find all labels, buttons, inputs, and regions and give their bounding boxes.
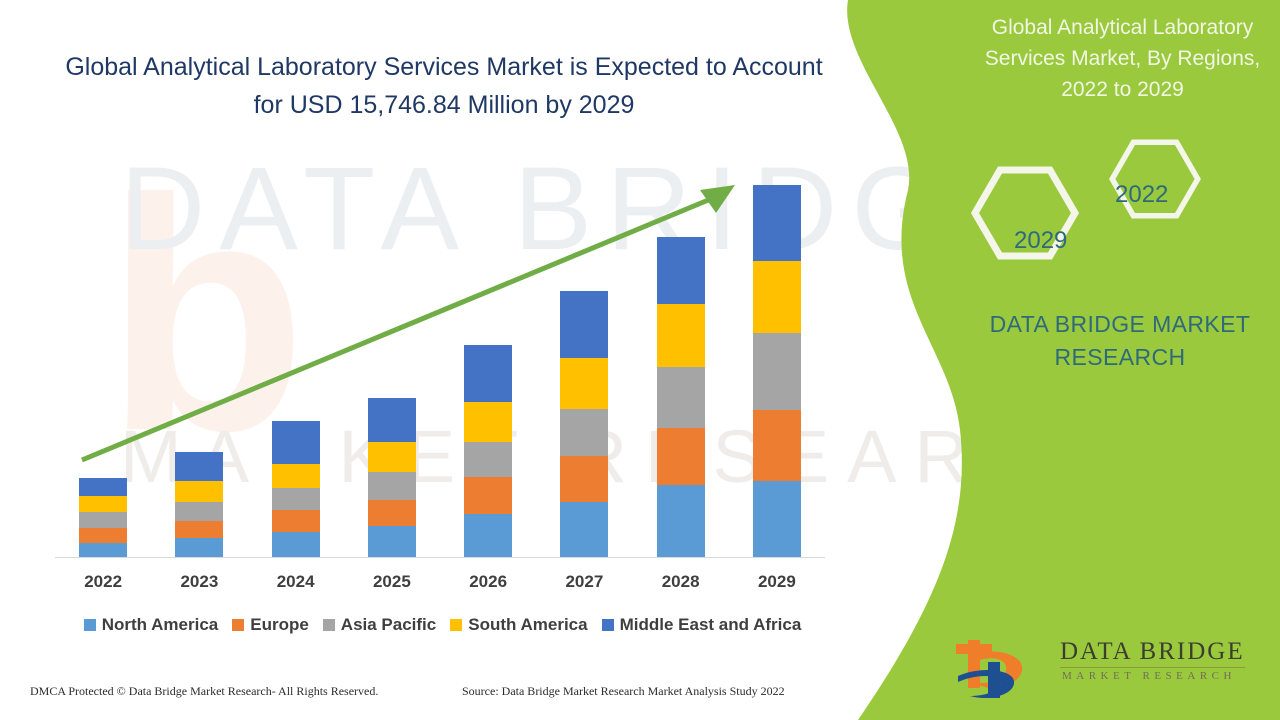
bar-segment [79, 478, 127, 496]
hexagon-label-2022: 2022 [1115, 181, 1168, 209]
bar-slot [633, 150, 729, 557]
bar-slot [151, 150, 247, 557]
legend-swatch-icon [232, 619, 244, 631]
bar-segment [272, 464, 320, 488]
bar-segment [175, 452, 223, 481]
brand-name-line1: DATA BRIDGE MARKET [970, 308, 1270, 341]
logo-wordmark: DATA BRIDGE [1060, 638, 1245, 666]
bar-segment [560, 358, 608, 409]
legend-item[interactable]: North America [84, 615, 219, 635]
x-axis-tick-label: 2025 [344, 572, 440, 592]
bar-segment [753, 410, 801, 481]
x-axis-labels: 20222023202420252026202720282029 [55, 572, 825, 592]
hexagon-outline-icon [970, 135, 1220, 280]
legend-label: Middle East and Africa [620, 615, 802, 635]
bar-segment [175, 481, 223, 502]
x-axis-tick-label: 2026 [440, 572, 536, 592]
chart-legend: North AmericaEuropeAsia PacificSouth Ame… [55, 615, 830, 635]
brand-name-line2: RESEARCH [970, 341, 1270, 374]
x-axis-tick-label: 2029 [729, 572, 825, 592]
logo-b-icon [950, 636, 1055, 702]
bar-segment [657, 485, 705, 557]
bar-segment [464, 442, 512, 477]
bar-segment [272, 510, 320, 532]
bar-segment [464, 514, 512, 557]
legend-label: Asia Pacific [341, 615, 436, 635]
legend-item[interactable]: Middle East and Africa [602, 615, 802, 635]
bar-segment [175, 538, 223, 557]
brand-panel-title: Global Analytical Laboratory Services Ma… [965, 12, 1280, 105]
x-axis-tick-label: 2028 [633, 572, 729, 592]
legend-label: North America [102, 615, 219, 635]
legend-swatch-icon [450, 619, 462, 631]
legend-swatch-icon [84, 619, 96, 631]
bar-segment [272, 488, 320, 510]
legend-item[interactable]: Europe [232, 615, 309, 635]
bar-segment [464, 402, 512, 442]
bar-segment [657, 367, 705, 428]
bar-segment [657, 428, 705, 485]
bar-segment [368, 526, 416, 557]
bar-segment [753, 185, 801, 261]
hexagon-group: 2022 2029 [970, 135, 1220, 280]
stacked-bar[interactable] [272, 421, 320, 557]
x-axis-tick-label: 2024 [248, 572, 344, 592]
logo-tagline: MARKET RESEARCH [1062, 670, 1236, 682]
legend-label: South America [468, 615, 587, 635]
bar-segment [560, 409, 608, 456]
brand-name: DATA BRIDGE MARKET RESEARCH [970, 308, 1270, 374]
x-axis-line [55, 557, 825, 558]
bar-segment [464, 345, 512, 402]
bar-segment [368, 442, 416, 472]
bar-segment [753, 333, 801, 410]
bar-group [55, 150, 825, 557]
page-title: Global Analytical Laboratory Services Ma… [64, 48, 824, 124]
bar-segment [272, 421, 320, 464]
hexagon-label-2029: 2029 [1014, 227, 1067, 255]
bar-slot [55, 150, 151, 557]
legend-swatch-icon [602, 619, 614, 631]
x-axis-tick-label: 2023 [151, 572, 247, 592]
bar-slot [344, 150, 440, 557]
bar-slot [440, 150, 536, 557]
logo-divider [1060, 667, 1245, 668]
bar-segment [79, 512, 127, 528]
brand-panel: Global Analytical Laboratory Services Ma… [820, 0, 1280, 720]
bar-segment [272, 532, 320, 557]
stacked-bar[interactable] [657, 237, 705, 557]
stacked-bar[interactable] [560, 291, 608, 557]
company-logo: DATA BRIDGE MARKET RESEARCH [950, 636, 1250, 702]
bar-segment [175, 521, 223, 538]
bar-segment [560, 291, 608, 358]
bar-segment [79, 496, 127, 512]
bar-segment [79, 528, 127, 543]
bar-slot [248, 150, 344, 557]
legend-swatch-icon [323, 619, 335, 631]
footer-copyright: DMCA Protected © Data Bridge Market Rese… [30, 684, 378, 699]
bar-segment [368, 500, 416, 526]
bar-segment [368, 398, 416, 442]
bar-slot [729, 150, 825, 557]
bar-segment [560, 456, 608, 502]
bar-segment [753, 481, 801, 557]
x-axis-tick-label: 2022 [55, 572, 151, 592]
footer-source: Source: Data Bridge Market Research Mark… [462, 684, 785, 699]
stacked-bar[interactable] [79, 478, 127, 557]
bar-segment [657, 237, 705, 304]
legend-item[interactable]: South America [450, 615, 587, 635]
bar-segment [753, 261, 801, 333]
bar-segment [464, 477, 512, 514]
x-axis-tick-label: 2027 [536, 572, 632, 592]
bar-slot [536, 150, 632, 557]
stacked-bar[interactable] [175, 452, 223, 557]
bar-segment [79, 543, 127, 557]
slide-canvas: b DATA BRIDGE MARKET RESEARCH Global Ana… [0, 0, 1280, 720]
stacked-bar[interactable] [753, 185, 801, 557]
stacked-bar[interactable] [464, 345, 512, 557]
bar-segment [368, 472, 416, 500]
bar-segment [657, 304, 705, 367]
stacked-bar[interactable] [368, 398, 416, 557]
legend-item[interactable]: Asia Pacific [323, 615, 436, 635]
legend-label: Europe [250, 615, 309, 635]
bar-segment [560, 502, 608, 557]
bar-segment [175, 502, 223, 521]
